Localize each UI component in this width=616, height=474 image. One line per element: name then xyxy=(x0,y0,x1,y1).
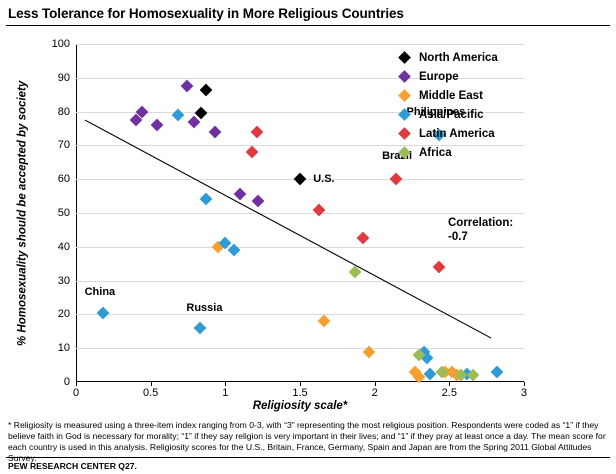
x-tick-mark xyxy=(449,382,450,386)
y-tick-label: 0 xyxy=(40,376,70,388)
x-tick-label: 0.5 xyxy=(143,387,158,399)
x-axis-label: Religiosity scale* xyxy=(76,400,524,412)
y-tick-label: 90 xyxy=(40,72,70,84)
legend-item[interactable]: Asia/Pacific xyxy=(398,105,548,124)
x-tick-mark xyxy=(151,382,152,386)
legend-swatch-icon xyxy=(398,51,411,64)
chart-page: Less Tolerance for Homosexuality in More… xyxy=(0,0,616,474)
y-tick-label: 10 xyxy=(40,342,70,354)
x-tick-mark xyxy=(300,382,301,386)
y-tick-label: 70 xyxy=(40,139,70,151)
legend-item[interactable]: Europe xyxy=(398,67,548,86)
legend-label: Europe xyxy=(419,71,459,83)
y-tick-label: 40 xyxy=(40,241,70,253)
legend-item[interactable]: Africa xyxy=(398,143,548,162)
x-tick-mark xyxy=(225,382,226,386)
x-tick-mark xyxy=(76,382,77,386)
x-tick-label: 1 xyxy=(222,387,228,399)
point-label: China xyxy=(85,286,116,298)
x-tick-mark xyxy=(375,382,376,386)
legend-item[interactable]: Latin America xyxy=(398,124,548,143)
legend-swatch-icon xyxy=(398,70,411,83)
legend-label: Latin America xyxy=(419,128,495,140)
point-label: Russia xyxy=(186,302,222,314)
y-tick-label: 20 xyxy=(40,308,70,320)
point-label: U.S. xyxy=(313,173,334,185)
x-tick-label: 0 xyxy=(73,387,79,399)
bottom-divider xyxy=(6,457,610,458)
x-tick-label: 2.5 xyxy=(442,387,457,399)
source-line: PEW RESEARCH CENTER Q27. xyxy=(8,461,137,471)
y-tick-label: 80 xyxy=(40,106,70,118)
page-title: Less Tolerance for Homosexuality in More… xyxy=(8,6,404,21)
x-tick-mark xyxy=(524,382,525,386)
y-tick-label: 30 xyxy=(40,275,70,287)
legend-item[interactable]: North America xyxy=(398,48,548,67)
title-divider xyxy=(6,25,610,26)
correlation-value: -0.7 xyxy=(448,230,513,244)
correlation-label: Correlation: xyxy=(448,216,513,230)
legend-label: Middle East xyxy=(419,90,483,102)
x-tick-label: 1.5 xyxy=(292,387,307,399)
correlation-callout: Correlation: -0.7 xyxy=(448,216,513,245)
legend-swatch-icon xyxy=(398,108,411,121)
x-tick-label: 2 xyxy=(372,387,378,399)
x-tick-label: 3 xyxy=(521,387,527,399)
legend-label: Asia/Pacific xyxy=(419,109,484,121)
legend-label: North America xyxy=(419,52,498,64)
y-axis-label: % Homosexuality should be accepted by so… xyxy=(14,44,32,382)
y-tick-label: 100 xyxy=(40,38,70,50)
y-tick-label: 50 xyxy=(40,207,70,219)
legend-swatch-icon xyxy=(398,127,411,140)
legend-item[interactable]: Middle East xyxy=(398,86,548,105)
legend: North AmericaEuropeMiddle EastAsia/Pacif… xyxy=(398,48,548,162)
legend-label: Africa xyxy=(419,147,452,159)
legend-swatch-icon xyxy=(398,89,411,102)
legend-swatch-icon xyxy=(398,146,411,159)
y-tick-label: 60 xyxy=(40,173,70,185)
